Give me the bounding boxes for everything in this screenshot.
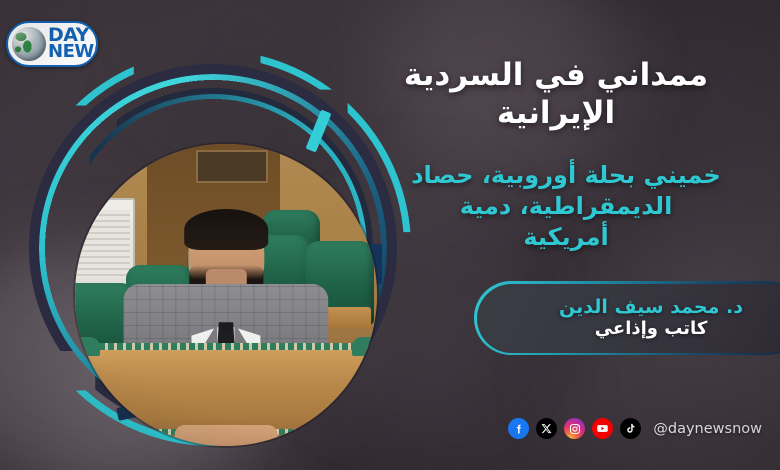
person-hair (184, 209, 268, 250)
guest-portrait-photo (75, 144, 377, 446)
x-icon[interactable] (536, 418, 557, 439)
subheadline-line-3: أمريكية (366, 222, 766, 253)
photo-desk-arm-right (352, 337, 377, 356)
subheadline-line-2: الديمقراطية، دمية (366, 191, 766, 222)
author-credit-inner: د. محمد سيف الدين كاتب وإذاعي (477, 284, 780, 353)
facebook-icon[interactable] (508, 418, 529, 439)
photo-desk-arm-left (75, 337, 100, 356)
subheadline-line-1: خميني بحلة أوروبية، حصاد (366, 160, 766, 191)
author-credit-box: د. محمد سيف الدين كاتب وإذاعي (474, 281, 780, 355)
social-bar: @daynewsnow (508, 418, 762, 439)
news-graphic-card: DAY NEWS (0, 0, 780, 470)
author-name: د. محمد سيف الدين (559, 296, 743, 318)
social-handle[interactable]: @daynewsnow (653, 421, 762, 437)
subheadline: خميني بحلة أوروبية، حصاد الديمقراطية، دم… (366, 160, 766, 254)
headline: ممداني في السردية الإيرانية (346, 56, 766, 133)
tiktok-icon[interactable] (620, 418, 641, 439)
photo-wall-frame (196, 150, 268, 183)
headline-line-1: ممداني في السردية (346, 56, 766, 94)
author-role: كاتب وإذاعي (595, 319, 708, 340)
youtube-icon[interactable] (592, 418, 613, 439)
instagram-icon[interactable] (564, 418, 585, 439)
headline-line-2: الإيرانية (346, 94, 766, 132)
person-hands (175, 425, 278, 446)
